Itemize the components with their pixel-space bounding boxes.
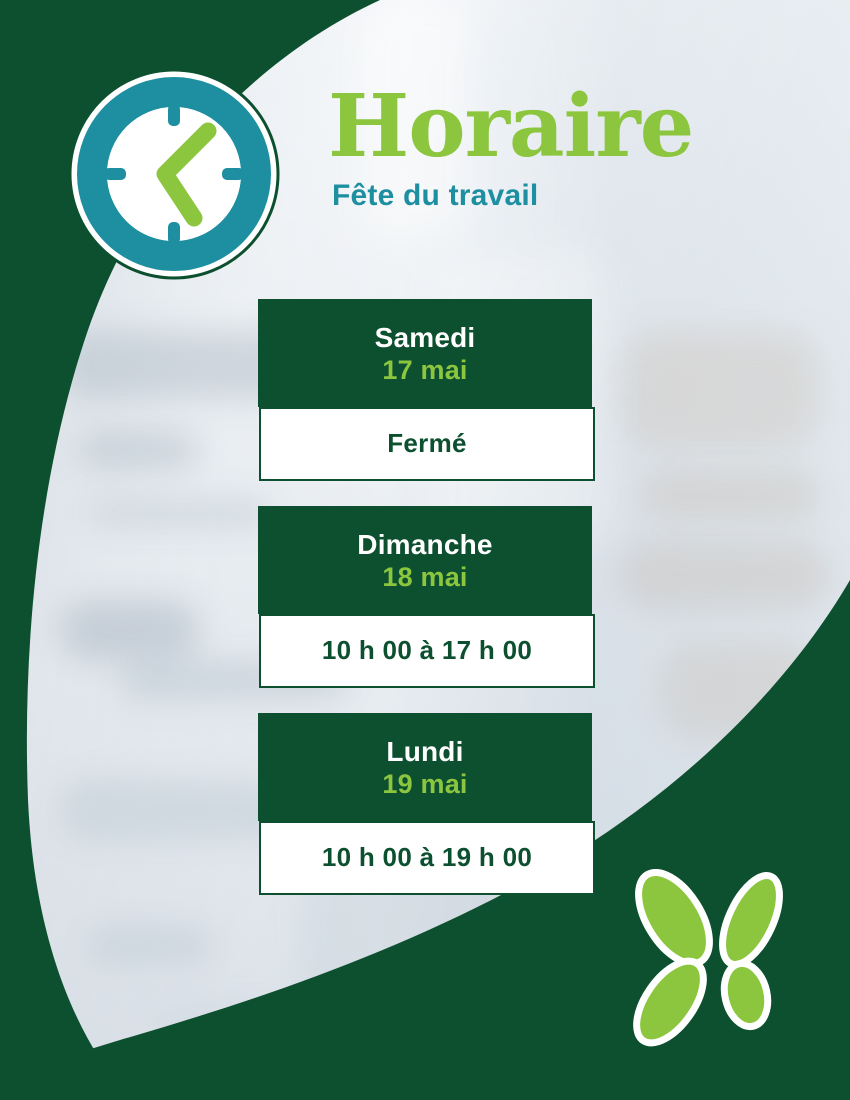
- schedule-card-header: Dimanche 18 mai: [258, 506, 592, 614]
- schedule-poster: Horaire Fête du travail Samedi 17 mai Fe…: [0, 0, 850, 1100]
- schedule-card: Lundi 19 mai 10 h 00 à 19 h 00: [258, 713, 592, 895]
- schedule-list: Samedi 17 mai Fermé Dimanche 18 mai 10 h…: [0, 299, 850, 920]
- schedule-hours-label: 10 h 00 à 19 h 00: [269, 842, 585, 873]
- schedule-date-label: 17 mai: [268, 354, 582, 387]
- schedule-card-body: Fermé: [259, 407, 595, 481]
- schedule-date-label: 18 mai: [268, 561, 582, 594]
- schedule-card-body: 10 h 00 à 19 h 00: [259, 821, 595, 895]
- clock-icon: [68, 68, 280, 280]
- schedule-day-label: Dimanche: [268, 528, 582, 561]
- schedule-card-body: 10 h 00 à 17 h 00: [259, 614, 595, 688]
- poster-header: Horaire Fête du travail: [328, 86, 808, 213]
- schedule-card-header: Samedi 17 mai: [258, 299, 592, 407]
- butterfly-logo: [612, 860, 812, 1060]
- page-subtitle: Fête du travail: [332, 179, 808, 213]
- schedule-hours-label: Fermé: [269, 428, 585, 459]
- schedule-card: Dimanche 18 mai 10 h 00 à 17 h 00: [258, 506, 592, 688]
- schedule-card-header: Lundi 19 mai: [258, 713, 592, 821]
- schedule-day-label: Lundi: [268, 735, 582, 768]
- page-title: Horaire: [328, 86, 808, 169]
- schedule-date-label: 19 mai: [268, 768, 582, 801]
- schedule-day-label: Samedi: [268, 321, 582, 354]
- schedule-card: Samedi 17 mai Fermé: [258, 299, 592, 481]
- schedule-hours-label: 10 h 00 à 17 h 00: [269, 635, 585, 666]
